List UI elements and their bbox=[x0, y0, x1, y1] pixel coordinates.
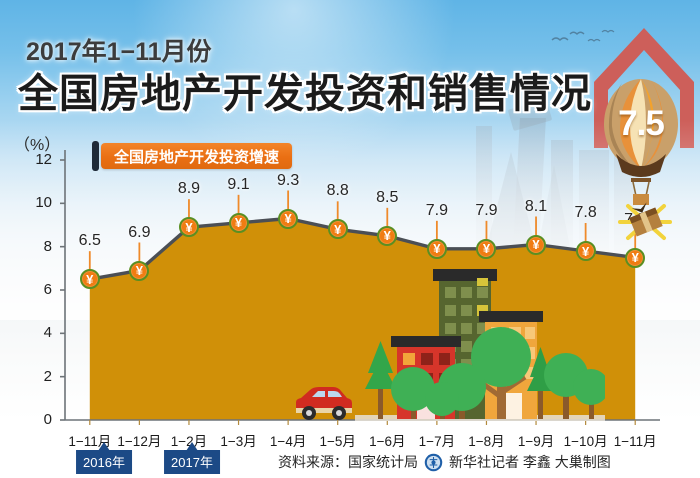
data-point-value: 7.9 bbox=[426, 202, 448, 220]
x-axis-tick-label: 1−6月 bbox=[369, 430, 405, 450]
gift-sparkle-graphic bbox=[616, 198, 676, 246]
data-point-value: 9.3 bbox=[277, 172, 299, 190]
data-point-value: 7.8 bbox=[575, 204, 597, 222]
yuan-icon: ¥ bbox=[129, 261, 149, 281]
yuan-icon: ¥ bbox=[80, 269, 100, 289]
hot-air-balloon-graphic bbox=[602, 78, 680, 210]
x-axis-tick-label: 1−3月 bbox=[220, 430, 256, 450]
year-badge: 2016年 bbox=[76, 450, 132, 474]
city-illustration bbox=[355, 265, 605, 430]
y-axis-tick-label: 12 bbox=[22, 151, 52, 168]
legend-label: 全国房地产开发投资增速 bbox=[101, 143, 292, 169]
balloon-value: 7.5 bbox=[602, 104, 680, 144]
data-point-marker[interactable]: ¥ bbox=[278, 209, 298, 229]
source-text: 资料来源：国家统计局 bbox=[278, 452, 418, 472]
x-axis-tick-label: 1−8月 bbox=[468, 430, 504, 450]
car-illustration bbox=[293, 383, 355, 423]
yuan-icon: ¥ bbox=[526, 235, 546, 255]
y-axis-tick-label: 10 bbox=[22, 194, 52, 211]
data-point-marker[interactable]: ¥ bbox=[80, 269, 100, 289]
x-axis-tick-label: 1−10月 bbox=[564, 430, 608, 450]
y-axis-tick-label: 0 bbox=[22, 411, 52, 428]
yuan-icon: ¥ bbox=[179, 217, 199, 237]
x-axis-tick-label: 1−11月 bbox=[614, 430, 657, 450]
data-point-marker[interactable]: ¥ bbox=[179, 217, 199, 237]
data-point-marker[interactable]: ¥ bbox=[427, 239, 447, 259]
data-point-value: 6.5 bbox=[79, 232, 101, 250]
y-axis-tick-label: 6 bbox=[22, 281, 52, 298]
data-point-value: 8.8 bbox=[327, 182, 349, 200]
xinhua-logo-icon bbox=[424, 453, 443, 472]
y-axis-tick-label: 4 bbox=[22, 324, 52, 341]
data-point-value: 6.9 bbox=[128, 224, 150, 242]
yuan-icon: ¥ bbox=[576, 241, 596, 261]
yuan-icon: ¥ bbox=[476, 239, 496, 259]
data-point-marker[interactable]: ¥ bbox=[476, 239, 496, 259]
infographic-canvas: 2017年1−11月份 全国房地产开发投资和销售情况 bbox=[0, 0, 700, 478]
data-point-marker[interactable]: ¥ bbox=[129, 261, 149, 281]
yuan-icon: ¥ bbox=[625, 248, 645, 268]
data-point-value: 9.1 bbox=[227, 176, 249, 194]
x-axis-tick-label: 1−7月 bbox=[419, 430, 455, 450]
x-axis-tick-label: 1−12月 bbox=[117, 430, 161, 450]
data-point-marker[interactable]: ¥ bbox=[526, 235, 546, 255]
yuan-icon: ¥ bbox=[377, 226, 397, 246]
yuan-icon: ¥ bbox=[427, 239, 447, 259]
data-point-marker[interactable]: ¥ bbox=[229, 213, 249, 233]
legend-accent-bar bbox=[92, 141, 99, 171]
data-point-value: 8.9 bbox=[178, 180, 200, 198]
credit-text: 新华社记者 李鑫 大巢制图 bbox=[449, 452, 611, 472]
data-point-marker[interactable]: ¥ bbox=[328, 219, 348, 239]
yuan-icon: ¥ bbox=[328, 219, 348, 239]
x-axis-tick-label: 1−9月 bbox=[518, 430, 554, 450]
data-point-value: 8.5 bbox=[376, 189, 398, 207]
data-point-marker[interactable]: ¥ bbox=[576, 241, 596, 261]
y-axis-tick-label: 8 bbox=[22, 238, 52, 255]
footer-credits: 资料来源：国家统计局 新华社记者 李鑫 大巢制图 bbox=[278, 452, 611, 472]
year-badge: 2017年 bbox=[164, 450, 220, 474]
data-point-marker[interactable]: ¥ bbox=[377, 226, 397, 246]
x-axis-tick-label: 1−4月 bbox=[270, 430, 306, 450]
yuan-icon: ¥ bbox=[229, 213, 249, 233]
data-point-value: 7.9 bbox=[475, 202, 497, 220]
data-point-value: 8.1 bbox=[525, 198, 547, 216]
data-point-marker[interactable]: ¥ bbox=[625, 248, 645, 268]
y-axis-tick-label: 2 bbox=[22, 368, 52, 385]
x-axis-tick-label: 1−5月 bbox=[320, 430, 356, 450]
yuan-icon: ¥ bbox=[278, 209, 298, 229]
